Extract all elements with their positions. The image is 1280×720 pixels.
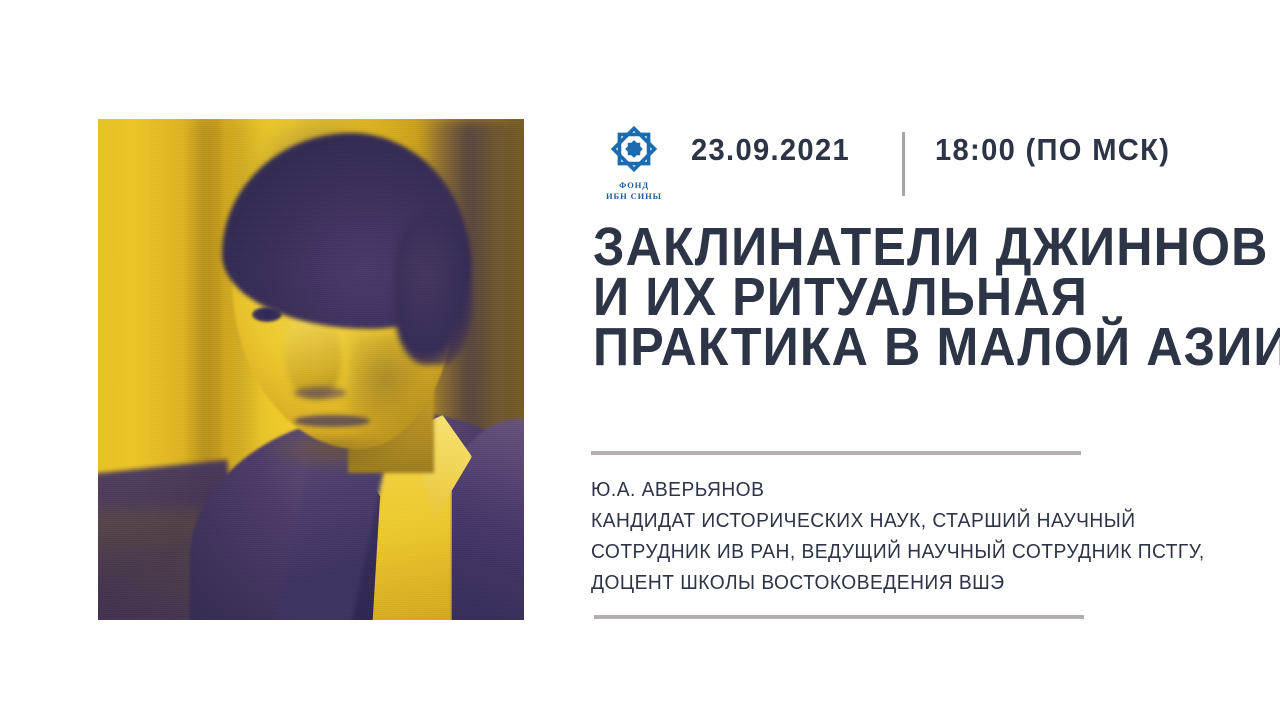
event-date-block: 23.09.2021 bbox=[691, 119, 860, 181]
event-title: ЗАКЛИНАТЕЛИ ДЖИННОВ И ИХ РИТУАЛЬНАЯ ПРАК… bbox=[593, 222, 1249, 372]
portrait-hair-side bbox=[394, 215, 472, 365]
foundation-logo: ФОНД ИБН СИНЫ bbox=[591, 119, 677, 201]
portrait-nostril bbox=[294, 387, 346, 399]
poster-content: ФОНД ИБН СИНЫ 23.09.2021 18:00 (ПО МСК) … bbox=[591, 0, 1251, 720]
speaker-divider-bottom bbox=[594, 615, 1084, 619]
event-title-line: ЗАКЛИНАТЕЛИ ДЖИННОВ bbox=[593, 222, 1203, 272]
speaker-name: Ю.А. АВЕРЬЯНОВ bbox=[591, 475, 1063, 506]
speaker-block: Ю.А. АВЕРЬЯНОВ КАНДИДАТ ИСТОРИЧЕСКИХ НАУ… bbox=[591, 451, 1083, 619]
speaker-text: Ю.А. АВЕРЬЯНОВ КАНДИДАТ ИСТОРИЧЕСКИХ НАУ… bbox=[591, 455, 1083, 615]
event-time-block: 18:00 (ПО МСК) bbox=[935, 119, 1185, 181]
meta-row: ФОНД ИБН СИНЫ 23.09.2021 18:00 (ПО МСК) bbox=[591, 119, 1185, 209]
speaker-credentials-line: СОТРУДНИК ИВ РАН, ВЕДУЩИЙ НАУЧНЫЙ СОТРУД… bbox=[591, 537, 1063, 568]
foundation-logo-wordmark: ФОНД ИБН СИНЫ bbox=[606, 180, 662, 201]
event-time: 18:00 (ПО МСК) bbox=[935, 132, 1170, 168]
event-date: 23.09.2021 bbox=[691, 132, 850, 168]
portrait-mouth bbox=[294, 415, 370, 427]
event-title-line: ПРАКТИКА В МАЛОЙ АЗИИ bbox=[593, 322, 1203, 372]
event-title-line: И ИХ РИТУАЛЬНАЯ bbox=[593, 272, 1203, 322]
eight-pointed-star-rosette-icon bbox=[608, 123, 660, 175]
speaker-portrait-photo bbox=[98, 119, 524, 620]
meta-divider bbox=[902, 132, 905, 196]
foundation-logo-line1: ФОНД bbox=[606, 180, 662, 191]
portrait-chin-shadow bbox=[266, 435, 398, 471]
event-poster: ФОНД ИБН СИНЫ 23.09.2021 18:00 (ПО МСК) … bbox=[0, 0, 1280, 720]
speaker-credentials-line: ДОЦЕНТ ШКОЛЫ ВОСТОКОВЕДЕНИЯ ВШЭ bbox=[591, 568, 1063, 599]
speaker-credentials-line: КАНДИДАТ ИСТОРИЧЕСКИХ НАУК, СТАРШИЙ НАУЧ… bbox=[591, 506, 1063, 537]
foundation-logo-line2: ИБН СИНЫ bbox=[606, 191, 662, 202]
